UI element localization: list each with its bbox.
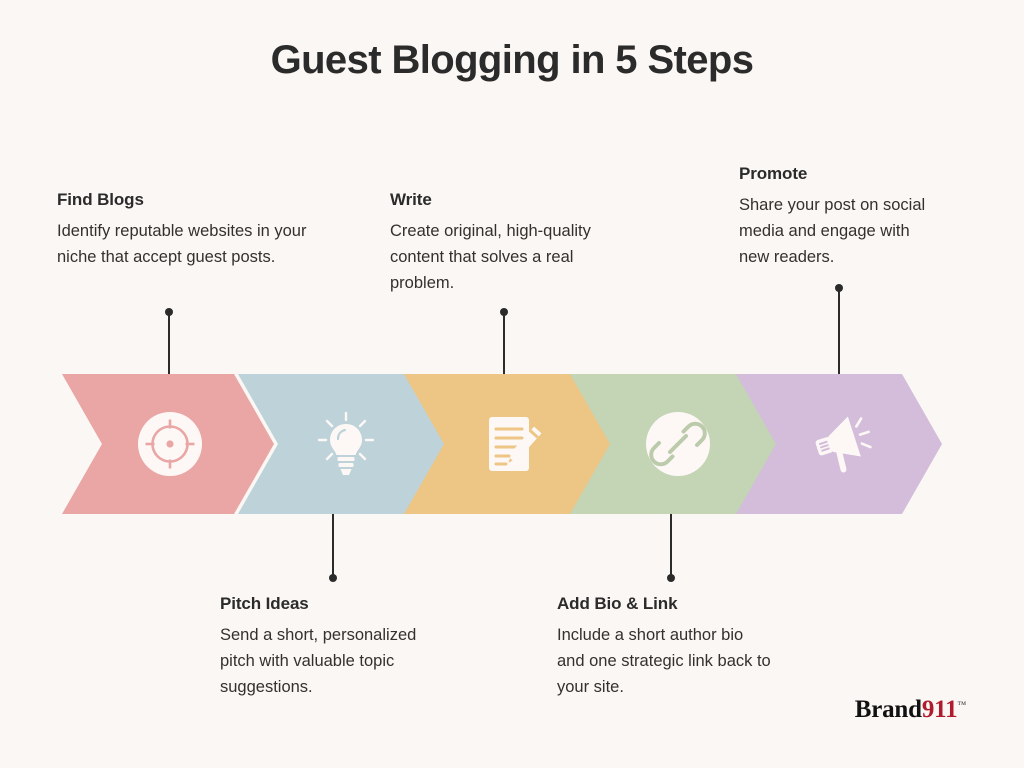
process-chevron-band <box>62 374 942 514</box>
step-3-icon-wrap <box>475 407 549 481</box>
step-4-description: Include a short author bio and one strat… <box>557 622 772 700</box>
lightbulb-icon <box>309 407 383 481</box>
chevron-step-5[interactable] <box>736 374 942 514</box>
brand-logo[interactable]: Brand911™ <box>855 696 966 724</box>
brand-logo-primary: Brand <box>855 696 922 723</box>
step-2-heading: Pitch Ideas <box>220 594 450 614</box>
page-title: Guest Blogging in 5 Steps <box>0 38 1024 83</box>
step-2-icon-wrap <box>309 407 383 481</box>
connector-dot <box>329 574 337 582</box>
connector-line-step-3 <box>503 312 505 376</box>
step-text-5: Promote Share your post on social media … <box>739 164 929 270</box>
step-3-heading: Write <box>390 190 605 210</box>
step-3-description: Create original, high-quality content th… <box>390 218 605 296</box>
step-1-description: Identify reputable websites in your nich… <box>57 218 307 270</box>
megaphone-icon <box>804 407 878 481</box>
connector-dot <box>835 284 843 292</box>
step-5-description: Share your post on social media and enga… <box>739 192 929 270</box>
brand-logo-accent: 911 <box>922 696 958 723</box>
connector-dot <box>500 308 508 316</box>
step-5-icon-wrap <box>804 407 878 481</box>
connector-line-step-4 <box>670 512 672 578</box>
step-text-4: Add Bio & Link Include a short author bi… <box>557 594 772 700</box>
connector-line-step-5 <box>838 288 840 376</box>
link-icon <box>641 407 715 481</box>
connector-line-step-2 <box>332 512 334 578</box>
step-4-heading: Add Bio & Link <box>557 594 772 614</box>
connector-line-step-1 <box>168 312 170 376</box>
connector-dot <box>667 574 675 582</box>
step-4-icon-wrap <box>641 407 715 481</box>
step-1-icon-wrap <box>133 407 207 481</box>
step-text-2: Pitch Ideas Send a short, personalized p… <box>220 594 450 700</box>
target-icon <box>133 407 207 481</box>
document-pencil-icon <box>475 407 549 481</box>
step-2-description: Send a short, personalized pitch with va… <box>220 622 450 700</box>
step-1-heading: Find Blogs <box>57 190 307 210</box>
trademark-symbol: ™ <box>957 700 966 710</box>
step-text-1: Find Blogs Identify reputable websites i… <box>57 190 307 270</box>
step-text-3: Write Create original, high-quality cont… <box>390 190 605 296</box>
connector-dot <box>165 308 173 316</box>
step-5-heading: Promote <box>739 164 929 184</box>
infographic-canvas: Guest Blogging in 5 Steps <box>0 0 1024 768</box>
